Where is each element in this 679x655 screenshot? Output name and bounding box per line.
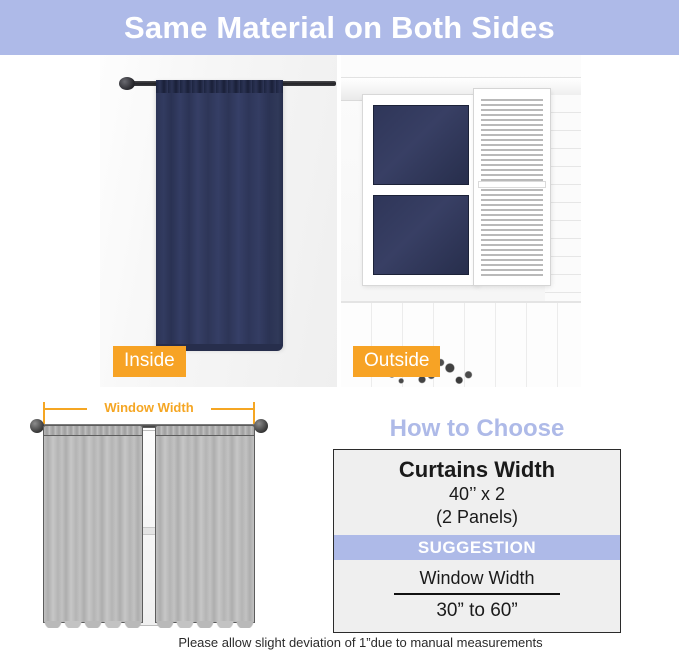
- header-banner: Same Material on Both Sides: [0, 0, 679, 55]
- window-pane-bottom: [373, 195, 469, 275]
- photo-inside: Inside: [100, 55, 337, 387]
- dimension-label: Window Width: [24, 400, 274, 416]
- page-title: Same Material on Both Sides: [124, 12, 555, 43]
- brick-wall: [545, 95, 581, 317]
- photo-outside: Outside: [341, 55, 581, 387]
- window-pane-top: [373, 105, 469, 185]
- tag-outside: Outside: [353, 346, 440, 377]
- photo-comparison-row: Inside Outside: [0, 55, 679, 387]
- diagram-panel-left: [43, 426, 143, 623]
- divider-rule: [394, 593, 560, 595]
- navy-curtain-panel: [156, 80, 283, 348]
- shutter-mid-rail: [478, 181, 546, 188]
- panels-note: (2 Panels): [334, 506, 620, 529]
- how-to-choose-title: How to Choose: [292, 415, 662, 443]
- tag-inside: Inside: [113, 346, 186, 377]
- measurement-disclaimer: Please allow slight deviation of 1”due t…: [0, 635, 679, 651]
- diagram-finial-right-icon: [254, 419, 268, 433]
- curtains-width-value: 40’’ x 2: [334, 483, 620, 506]
- how-to-choose-section: How to Choose Curtains Width 40’’ x 2 (2…: [292, 415, 662, 633]
- window-width-diagram: Window Width: [24, 400, 274, 648]
- size-guide-table: Curtains Width 40’’ x 2 (2 Panels) SUGGE…: [333, 449, 621, 633]
- window-width-label: Window Width: [334, 566, 620, 590]
- louvered-shutter: [474, 89, 550, 285]
- rod-finial-icon: [119, 77, 135, 90]
- curtains-width-label: Curtains Width: [334, 457, 620, 483]
- exterior-window-frame: [363, 95, 479, 285]
- suggestion-bar: SUGGESTION: [334, 535, 620, 560]
- diagram-finial-left-icon: [30, 419, 44, 433]
- window-width-range: 30” to 60”: [334, 599, 620, 623]
- diagram-panel-right: [155, 426, 255, 623]
